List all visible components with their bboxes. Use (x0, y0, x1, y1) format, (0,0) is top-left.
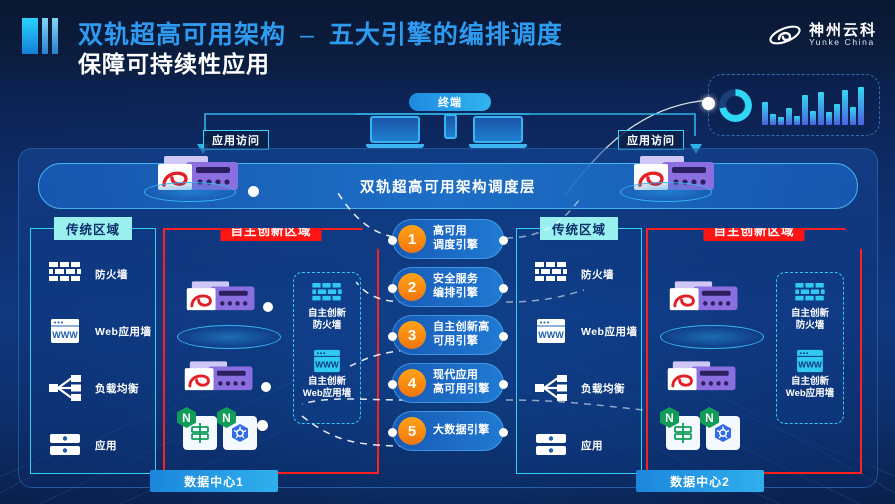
kubernetes-icon-right: N (706, 416, 740, 450)
engine-port-right (499, 380, 508, 389)
monitor-widget (708, 74, 880, 136)
bar (810, 111, 816, 125)
load-balancer-icon (49, 375, 81, 401)
service-label: Web应用墙 (95, 324, 151, 339)
datacenter-label-right: 数据中心2 (636, 470, 764, 492)
engine-port-left (388, 236, 397, 245)
engine-item-1[interactable]: 1高可用调度引擎 (392, 219, 504, 259)
engine-number: 1 (398, 225, 426, 253)
engine-label: 安全服务编排引擎 (433, 273, 478, 301)
engine-item-2[interactable]: 2安全服务编排引擎 (392, 267, 504, 307)
engine-item-5[interactable]: 5大数据引擎 (392, 411, 504, 451)
bar (778, 117, 784, 125)
traditional-zone-left-title: 传统区域 (54, 217, 132, 240)
logo-text-cn: 神州云科 (809, 23, 877, 39)
innovation-server-top-right (664, 278, 750, 322)
engine-label: 现代应用高可用引擎 (433, 369, 490, 397)
engine-port-left (388, 380, 397, 389)
engine-label: 高可用调度引擎 (433, 225, 478, 253)
engine-list: 1高可用调度引擎2安全服务编排引擎3自主创新高可用引擎4现代应用高可用引擎5大数… (392, 219, 504, 459)
firewall-icon (49, 261, 81, 287)
logo-text-en: Yunke China (809, 38, 877, 47)
bar (770, 114, 776, 125)
page-subtitle: 保障可持续性应用 (78, 45, 270, 79)
web-app-wall-icon: WWW (796, 349, 824, 373)
engine-item-4[interactable]: 4现代应用高可用引擎 (392, 363, 504, 403)
traditional-zone-left: 传统区域 防火墙 WWW Web应用墙 (30, 228, 156, 474)
engine-port-left (388, 284, 397, 293)
bar (794, 116, 800, 126)
title-accent-bars (22, 18, 58, 54)
innovation-platter-right (660, 325, 764, 349)
engine-number: 4 (398, 369, 426, 397)
engine-connector-lines-right (504, 190, 654, 460)
application-icon (49, 432, 81, 458)
slide-canvas: 双轨超高可用架构–五大引擎的编排调度 保障可持续性应用 神州云科 Yunke C… (0, 0, 895, 504)
service-firewall-left: 防火墙 (49, 261, 128, 287)
page-title-dash: – (286, 21, 329, 49)
innovation-firewall-caption: 自主创新防火墙 (791, 308, 829, 332)
page-header: 双轨超高可用架构–五大引擎的编排调度 保障可持续性应用 神州云科 Yunke C… (0, 0, 895, 80)
service-label: 防火墙 (95, 267, 128, 282)
k8s-helm-icon (712, 422, 734, 444)
service-application-left: 应用 (49, 432, 117, 458)
service-load-balancer-left: 负载均衡 (49, 375, 139, 401)
service-label: 负载均衡 (95, 381, 139, 396)
innovation-subbox-right: 自主创新防火墙 WWW 自主创新Web应用墙 (776, 272, 844, 424)
engine-label: 自主创新高可用引擎 (433, 321, 490, 349)
bar (826, 112, 832, 125)
service-label: 应用 (95, 438, 117, 453)
innovation-zone-right: 自主创新区域 N (646, 228, 862, 474)
service-mesh-icon (189, 422, 211, 444)
innovation-webwall-caption: 自主创新Web应用墙 (786, 376, 834, 400)
swirl-logo-icon (768, 22, 802, 48)
svg-text:WWW: WWW (798, 359, 822, 369)
firewall-icon (795, 283, 825, 305)
company-logo: 神州云科 Yunke China (768, 22, 877, 48)
access-label-left: 应用访问 (203, 130, 269, 150)
web-app-wall-icon: WWW (49, 318, 81, 344)
bar (842, 90, 848, 125)
bar-chart (762, 85, 864, 125)
engine-port-left (388, 428, 397, 437)
nginx-service-icon-left: N (183, 416, 217, 450)
datacenter-label-left: 数据中心1 (150, 470, 278, 492)
service-mesh-icon (672, 422, 694, 444)
innovation-server-bottom-right (662, 358, 748, 402)
engine-port-right (499, 428, 508, 437)
engine-item-3[interactable]: 3自主创新高可用引擎 (392, 315, 504, 355)
page-title-part2: 五大引擎的编排调度 (329, 21, 563, 49)
bar (858, 87, 864, 125)
bar (834, 104, 840, 125)
bar (802, 95, 808, 125)
svg-text:WWW: WWW (52, 330, 78, 340)
engine-port-left (388, 332, 397, 341)
nginx-service-icon-right: N (666, 416, 700, 450)
engine-label: 大数据引擎 (433, 424, 490, 438)
engine-port-right (499, 332, 508, 341)
engine-connector-lines-left (250, 190, 410, 460)
bar (850, 107, 856, 125)
scheduler-server-left (152, 152, 252, 204)
access-label-right: 应用访问 (618, 130, 684, 150)
engine-port-right (499, 284, 508, 293)
service-web-app-wall-left: WWW Web应用墙 (49, 318, 151, 344)
bar (762, 102, 768, 125)
bar (786, 108, 792, 125)
engine-number: 2 (398, 273, 426, 301)
engine-port-right (499, 236, 508, 245)
k8s-helm-icon (229, 422, 251, 444)
bar (818, 92, 824, 125)
engine-number: 3 (398, 321, 426, 349)
engine-number: 5 (398, 417, 426, 445)
